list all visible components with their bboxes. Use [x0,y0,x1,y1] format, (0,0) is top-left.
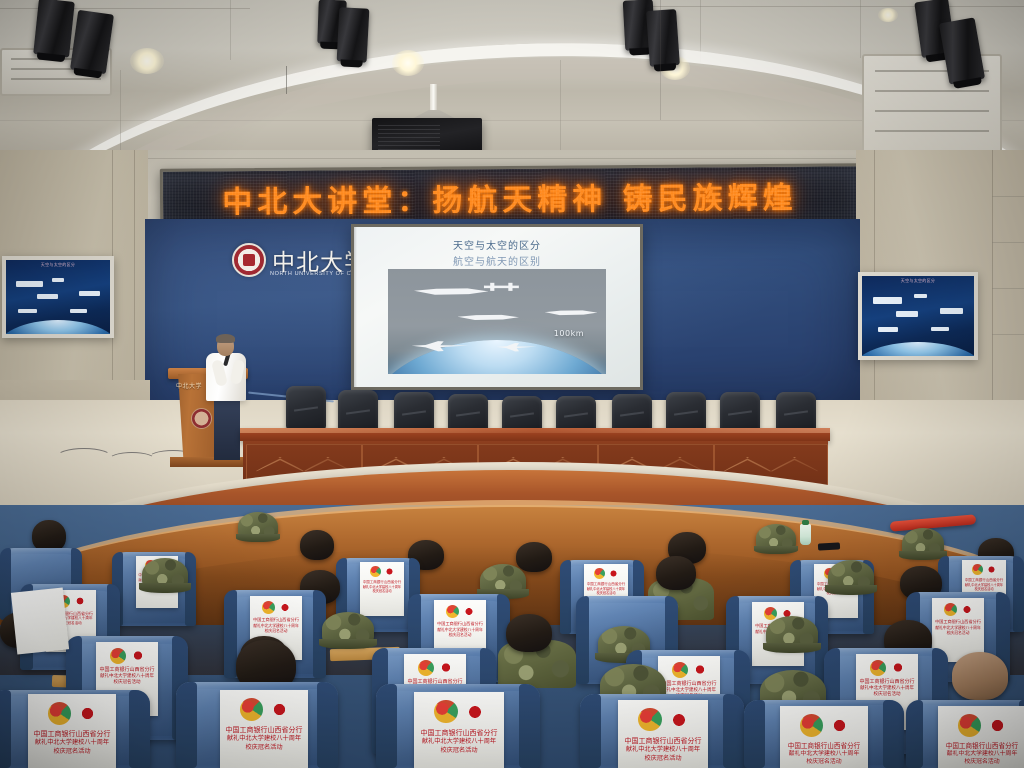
earth-horizon [388,340,606,374]
banner-line-3: 校庆冠名活动 [932,630,984,635]
camouflage-cap [828,560,874,592]
icbc-bank-logo [132,649,144,661]
banner-line-1: 中国工商银行山西省分行 [938,742,1024,751]
camouflage-cap [322,612,374,646]
stage-chair [776,392,816,432]
seat-headrest-banner-folded [11,587,69,654]
left-monitor-title: 天空与太空的区分 [6,262,110,268]
slide-title: 天空与太空的区分 [354,237,640,252]
banner-line-3: 校庆冠名活动 [962,587,1006,591]
banner-line-2: 献礼中北大学建校八十周年 [28,739,116,747]
icbc-bank-logo [892,661,904,673]
banner-line-1: 中国工商银行山西省分行 [618,737,708,746]
speaker-legs [214,398,240,460]
seat-headrest-banner: 中国工商银行山西省分行 献礼中北大学建校八十周年 校庆冠名活动 [780,706,868,768]
seat-headrest-banner: 中国工商银行山西省分行 献礼中北大学建校八十周年 校庆冠名活动 [414,692,504,768]
ceiling-downlight [392,50,424,76]
paper-cup [800,524,811,545]
led-banner-text: 中北大讲堂：扬航天精神 铸民族辉煌 [163,172,857,221]
icbc-bank-logo [670,711,688,729]
icbc-bank-logo [385,567,394,576]
stage-truss-light [337,7,370,62]
icbc-80th-anniversary-mark [958,714,981,737]
icbc-bank-logo [989,717,1007,735]
banner-line-3: 校庆冠名活动 [360,589,404,593]
mini-craft-icon [873,297,902,304]
icbc-bank-logo [464,606,474,616]
banner-line-3: 校庆冠名活动 [856,692,918,698]
audience-head [516,542,552,572]
mini-craft-icon [16,281,43,288]
stage-chair [720,392,760,432]
icbc-80th-anniversary-mark [370,566,381,577]
banner-line-3: 校庆冠名活动 [434,632,486,637]
lecture-hall-photo: 中北大讲堂：扬航天精神 铸民族辉煌 中北大学 NORTH UNIVERSITY … [0,0,1024,768]
microphone-cable [56,448,112,466]
stage-chair [556,396,596,432]
stage-chair [394,392,434,432]
icbc-bank-logo [609,569,618,578]
banner-line-3: 校庆冠名活动 [584,591,628,595]
right-monitor: 天空与太空的区分 [858,272,978,360]
spaceplane-icon [545,307,597,320]
university-logo: 中北大学 NORTH UNIVERSITY OF CHINA [232,243,368,277]
podium-emblem-icon [191,408,212,429]
left-monitor: 天空与太空的区分 [2,256,114,338]
space-shuttle-icon [458,311,519,325]
banner-line-1: 中国工商银行山西省分行 [780,742,868,751]
mini-craft-icon [940,308,962,314]
mobile-phone [818,542,840,550]
icbc-bank-logo [831,717,849,735]
slide-illustration: 100km [388,269,606,374]
balloon-cluster-icon [414,284,488,301]
icbc-bank-logo [694,663,706,675]
speaker-hair [216,334,235,343]
banner-line-3: 校庆冠名活动 [938,759,1024,767]
icbc-bank-logo [440,661,452,673]
seat-headrest-banner: 中国工商银行山西省分行 献礼中北大学建校八十周年 校庆冠名活动 [28,694,116,768]
mini-craft-icon [37,294,58,299]
stage-chair [286,386,326,430]
ceiling-downlight [130,48,164,74]
altitude-label: 100km [554,329,584,338]
icbc-80th-anniversary-mark [972,564,983,575]
audience-head [506,614,552,652]
icbc-80th-anniversary-mark [434,700,457,723]
icbc-bank-logo [962,604,972,614]
icbc-80th-anniversary-mark [48,702,71,725]
banner-line-3: 校庆冠名活动 [414,747,504,755]
icbc-80th-anniversary-mark [638,708,661,731]
seat-headrest-banner: 中国工商银行山西省分行 献礼中北大学建校八十周年 校庆冠名活动 [938,706,1024,768]
banner-line-2: 献礼中北大学建校八十周年 [780,751,868,759]
icbc-bank-logo [75,596,85,606]
icbc-80th-anniversary-mark [594,568,605,579]
stage-table-highlight [240,428,830,433]
icbc-80th-anniversary-mark [944,603,958,617]
projection-screen: 天空与太空的区分 航空与航天的区别 100km [351,224,643,390]
mini-craft-icon [878,327,898,332]
satellite-icon [484,282,519,293]
banner-line-3: 校庆冠名活动 [28,748,116,756]
stage-chair [666,392,706,432]
mini-craft-icon [52,278,64,282]
mini-craft-icon [18,309,37,313]
banner-line-3: 校庆冠名活动 [220,744,308,752]
mini-craft-icon [896,311,918,317]
camouflage-cap [756,524,796,552]
stage-truss-light [646,9,680,67]
seat-headrest-banner: 中国工商银行山西省分行 献礼中北大学建校八十周年 校庆冠名活动 [220,690,308,768]
banner-line-3: 校庆冠名活动 [618,755,708,763]
audience-head [952,652,1008,700]
icbc-bank-logo [271,701,289,719]
icbc-bank-logo [280,602,290,612]
banner-line-2: 献礼中北大学建校八十周年 [220,735,308,743]
camouflage-cap [902,528,944,558]
stage-chair [612,394,652,432]
camouflage-cap [480,564,526,596]
ceiling-wire [660,0,661,120]
icbc-80th-anniversary-mark [446,605,460,619]
mini-craft-icon [70,309,87,313]
icbc-80th-anniversary-mark [870,660,886,676]
icbc-bank-logo [466,703,484,721]
camouflage-cap [238,512,278,540]
banner-line-2: 献礼中北大学建校八十周年 [618,746,708,754]
mini-craft-icon [79,291,100,296]
projector-pole [430,84,437,114]
ceiling-downlight [878,8,898,22]
icbc-80th-anniversary-mark [240,698,263,721]
icbc-bank-logo [79,705,97,723]
seat-headrest-banner: 中国工商银行山西省分行 献礼中北大学建校八十周年 校庆冠名活动 [360,562,404,616]
university-seal-icon [232,243,266,277]
stage-chair [338,390,378,432]
stage-chair [448,394,488,432]
icbc-80th-anniversary-mark [672,662,688,678]
seat-headrest-banner: 中国工商银行山西省分行 献礼中北大学建校八十周年 校庆冠名活动 [618,700,708,768]
icbc-bank-logo [987,565,996,574]
mini-craft-icon [931,327,949,331]
banner-line-2: 献礼中北大学建校八十周年 [938,751,1024,759]
banner-line-3: 校庆冠名活动 [96,680,158,686]
stage-chair [502,396,542,432]
banner-line-3: 校庆冠名活动 [780,759,868,767]
camouflage-cap [142,558,188,590]
banner-line-1: 中国工商银行山西省分行 [414,729,504,738]
slide-subtitle: 航空与航天的区别 [354,253,640,268]
camouflage-cap [766,616,818,650]
banner-line-2: 献礼中北大学建校八十周年 [414,738,504,746]
audience-head [656,556,696,590]
audience-head [300,530,334,560]
icbc-80th-anniversary-mark [110,648,126,664]
stage-truss-light [33,0,75,58]
ceiling-wire [286,66,287,94]
icbc-80th-anniversary-mark [418,660,434,676]
banner-line-3: 校庆冠名活动 [250,628,302,633]
icbc-80th-anniversary-mark [800,714,823,737]
icbc-80th-anniversary-mark [262,601,276,615]
icbc-80th-anniversary-mark [764,607,778,621]
mini-craft-icon [914,294,927,299]
right-monitor-title: 天空与太空的区分 [862,278,974,284]
